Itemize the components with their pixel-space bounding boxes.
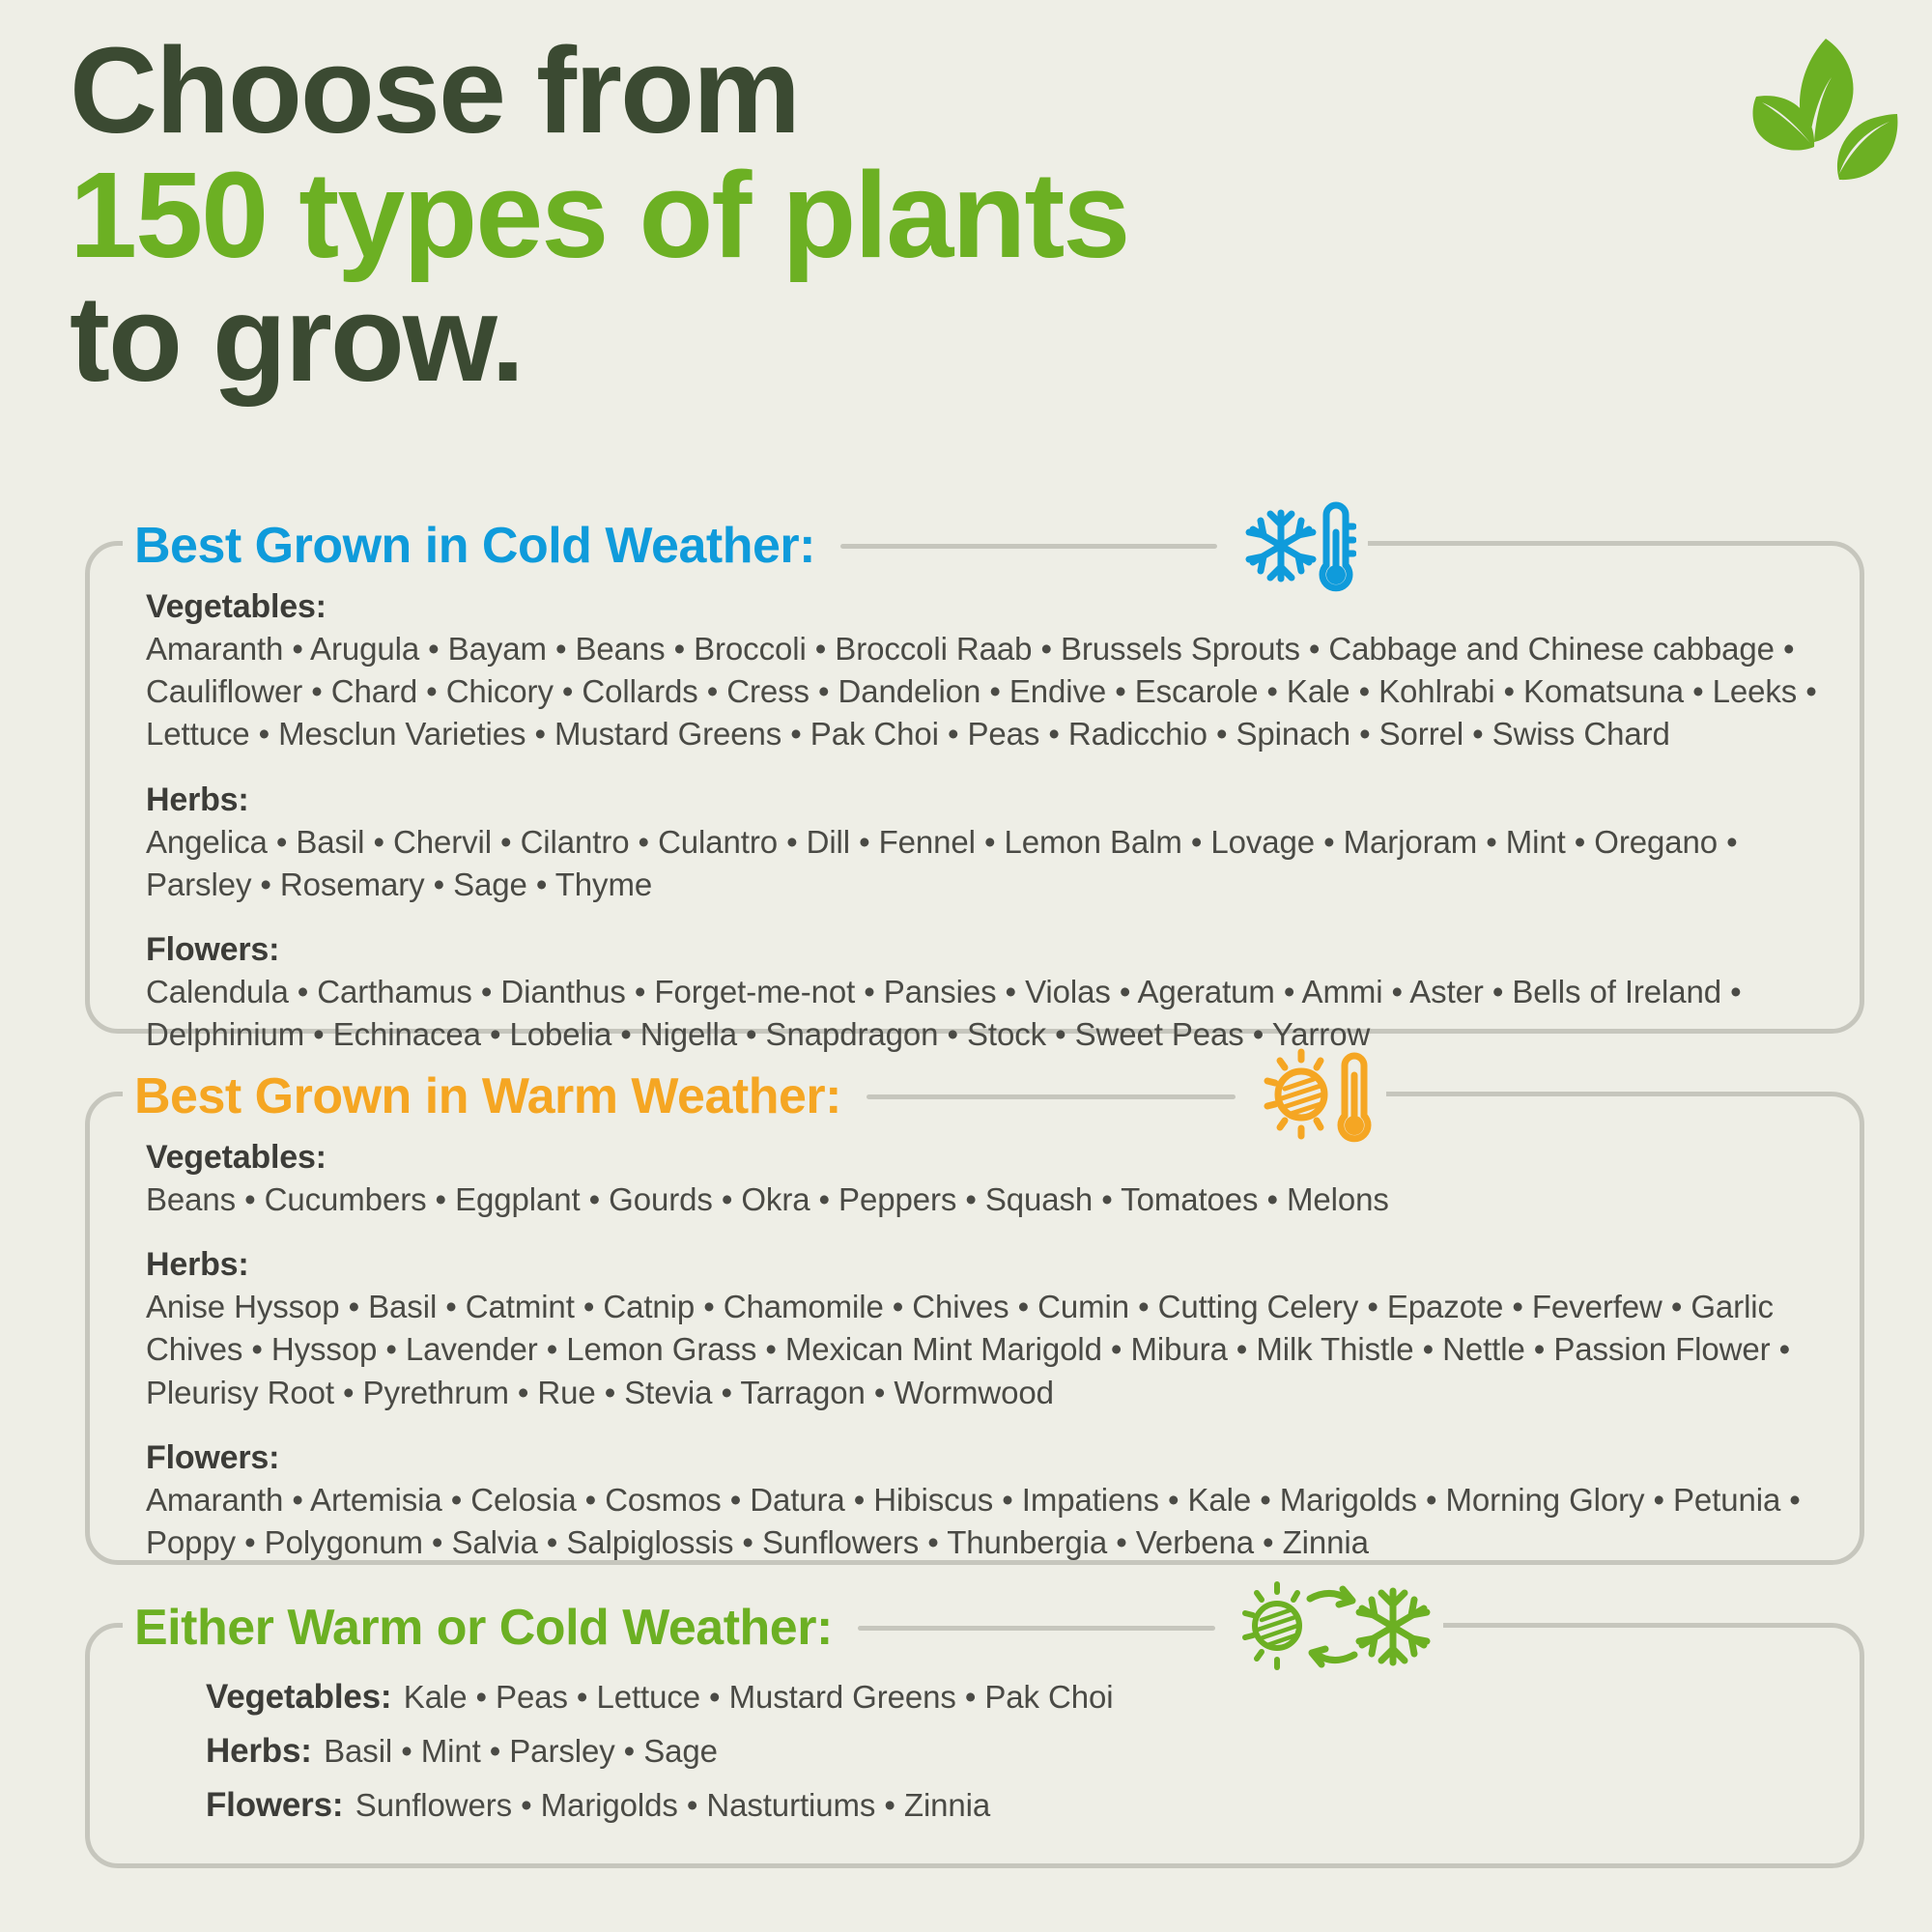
section-panel-warm: Best Grown in Warm Weather: xyxy=(85,1092,1864,1565)
section-panel-cold: Best Grown in Cold Weather: xyxy=(85,541,1864,1034)
group-label: Herbs: xyxy=(146,1246,1821,1284)
group-items: Amaranth • Arugula • Bayam • Beans • Bro… xyxy=(146,628,1821,756)
group-herbs-cold: Herbs: Angelica • Basil • Chervil • Cila… xyxy=(146,781,1821,906)
section-rule-cold xyxy=(840,544,1217,549)
group-items: Beans • Cucumbers • Eggplant • Gourds • … xyxy=(146,1179,1821,1221)
sun-thermometer-icon xyxy=(1259,1046,1375,1148)
section-body-cold: Vegetables: Amaranth • Arugula • Bayam •… xyxy=(146,588,1821,1057)
group-label: Flowers: xyxy=(146,931,1821,969)
group-herbs-either: Herbs: Basil • Mint • Parsley • Sage xyxy=(206,1730,1821,1773)
group-items: Amaranth • Artemisia • Celosia • Cosmos … xyxy=(146,1479,1821,1564)
section-header-warm: Best Grown in Warm Weather: xyxy=(134,1067,1375,1125)
group-items: Sunflowers • Marigolds • Nasturtiums • Z… xyxy=(355,1787,990,1823)
group-label: Flowers: xyxy=(146,1439,1821,1477)
group-flowers-either: Flowers: Sunflowers • Marigolds • Nastur… xyxy=(206,1784,1821,1827)
section-header-cold: Best Grown in Cold Weather: xyxy=(134,517,1356,575)
group-label: Vegetables: xyxy=(146,588,1821,626)
section-header-either: Either Warm or Cold Weather: xyxy=(134,1599,1432,1657)
section-body-warm: Vegetables: Beans • Cucumbers • Eggplant… xyxy=(146,1139,1821,1564)
group-flowers-cold: Flowers: Calendula • Carthamus • Dianthu… xyxy=(146,931,1821,1056)
infographic-page: Choose from 150 types of plants to grow.… xyxy=(0,0,1932,1932)
section-rule-warm xyxy=(867,1094,1236,1099)
section-panel-either: Either Warm or Cold Weather: xyxy=(85,1623,1864,1868)
section-title-warm: Best Grown in Warm Weather: xyxy=(134,1067,841,1125)
group-vegetables-either: Vegetables: Kale • Peas • Lettuce • Must… xyxy=(206,1676,1821,1719)
three-leaves-icon xyxy=(1718,27,1911,191)
group-items: Calendula • Carthamus • Dianthus • Forge… xyxy=(146,971,1821,1056)
group-vegetables-cold: Vegetables: Amaranth • Arugula • Bayam •… xyxy=(146,588,1821,756)
group-label: Herbs: xyxy=(146,781,1821,819)
section-rule-either xyxy=(858,1626,1215,1631)
headline-line-1: Choose from xyxy=(70,29,1615,154)
section-title-either: Either Warm or Cold Weather: xyxy=(134,1599,833,1657)
group-items: Angelica • Basil • Chervil • Cilantro • … xyxy=(146,821,1821,906)
group-label: Vegetables: xyxy=(206,1678,391,1716)
group-items: Basil • Mint • Parsley • Sage xyxy=(324,1733,718,1769)
group-label: Herbs: xyxy=(206,1732,312,1770)
group-flowers-warm: Flowers: Amaranth • Artemisia • Celosia … xyxy=(146,1439,1821,1564)
group-vegetables-warm: Vegetables: Beans • Cucumbers • Eggplant… xyxy=(146,1139,1821,1221)
group-label: Vegetables: xyxy=(146,1139,1821,1177)
group-items: Kale • Peas • Lettuce • Mustard Greens •… xyxy=(404,1679,1114,1715)
section-title-cold: Best Grown in Cold Weather: xyxy=(134,517,815,575)
headline-line-2: 150 types of plants xyxy=(70,154,1615,278)
group-items: Anise Hyssop • Basil • Catmint • Catnip … xyxy=(146,1286,1821,1414)
page-title: Choose from 150 types of plants to grow. xyxy=(70,29,1615,402)
section-body-either: Vegetables: Kale • Peas • Lettuce • Must… xyxy=(206,1676,1821,1839)
group-herbs-warm: Herbs: Anise Hyssop • Basil • Catmint • … xyxy=(146,1246,1821,1414)
group-label: Flowers: xyxy=(206,1786,343,1824)
headline-line-3: to grow. xyxy=(70,277,1615,402)
sun-snowflake-cycle-icon xyxy=(1238,1577,1432,1679)
snowflake-thermometer-icon xyxy=(1240,496,1356,597)
